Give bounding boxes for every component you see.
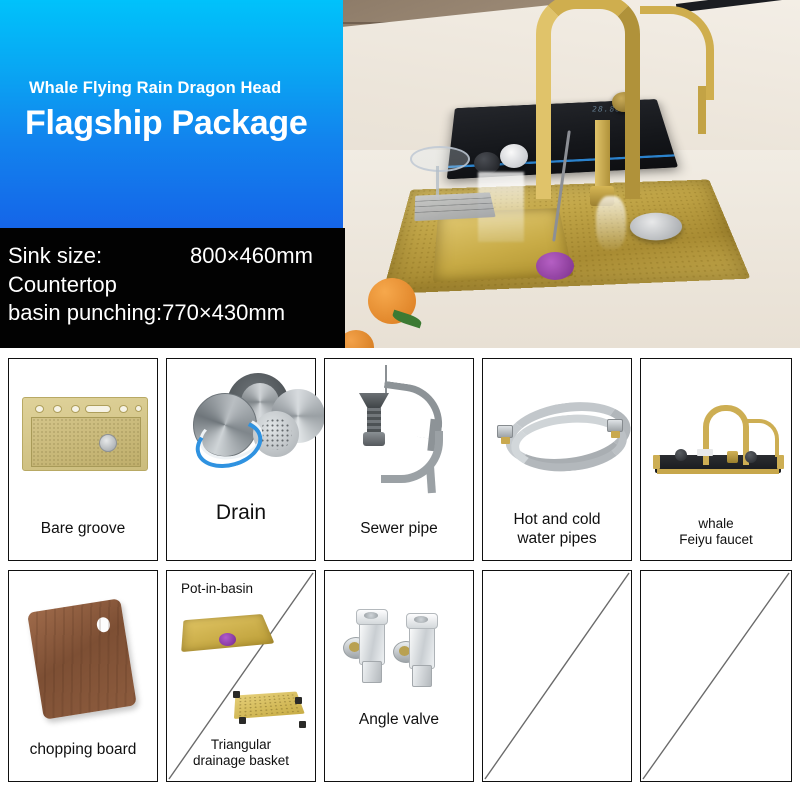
spec-basin-punching: basin punching:770×430mm <box>8 300 285 326</box>
caption-pot-in-basin: Pot-in-basin <box>181 581 253 596</box>
title-banner: Whale Flying Rain Dragon Head Flagship P… <box>0 0 343 228</box>
spec-countertop-label: Countertop <box>8 272 117 298</box>
caption-chopping-board: chopping board <box>9 741 157 759</box>
main-faucet-arc <box>536 0 640 199</box>
caption-whale-faucet-line1: whale <box>641 516 791 532</box>
caption-water-pipes: Hot and cold water pipes <box>483 511 631 548</box>
cell-empty-1[interactable] <box>482 570 632 782</box>
cell-chopping-board[interactable]: chopping board <box>8 570 158 782</box>
cell-bare-groove[interactable]: Bare groove <box>8 358 158 561</box>
diagonal-divider <box>483 571 631 781</box>
drain-board <box>414 192 495 221</box>
drain-logo <box>536 252 574 280</box>
caption-basket-line1: Triangular <box>167 737 315 753</box>
spec-sink-size-value: 800×460mm <box>190 243 313 269</box>
caption-whale-faucet-line2: Feiyu faucet <box>641 532 791 548</box>
caption-drain: Drain <box>167 501 315 526</box>
panel-dial <box>500 144 528 168</box>
caption-whale-faucet: whale Feiyu faucet <box>641 516 791 548</box>
diagonal-divider <box>641 571 791 781</box>
caption-water-pipes-line1: Hot and cold <box>483 511 631 529</box>
spray-stream <box>596 196 626 250</box>
banner-title: Flagship Package <box>25 104 307 143</box>
cell-water-pipes[interactable]: Hot and cold water pipes <box>482 358 632 561</box>
secondary-faucet-stem <box>698 86 706 134</box>
spec-sink-size: Sink size: 800×460mm <box>8 243 102 269</box>
angle-valve-illustration <box>325 571 473 781</box>
caption-basket-line2: drainage basket <box>167 753 315 769</box>
cell-sewer-pipe[interactable]: Sewer pipe <box>324 358 474 561</box>
caption-triangular-basket: Triangular drainage basket <box>167 737 315 769</box>
cell-empty-2[interactable] <box>640 570 792 782</box>
spec-sink-size-label: Sink size: <box>8 243 102 268</box>
caption-water-pipes-line2: water pipes <box>483 530 631 548</box>
cell-angle-valve[interactable]: Angle valve <box>324 570 474 782</box>
cell-whale-faucet[interactable]: whale Feiyu faucet <box>640 358 792 561</box>
cell-pot-and-basket[interactable]: Pot-in-basin Triangular drainage basket <box>166 570 316 782</box>
components-grid: Bare groove Drain Sewer pipe <box>0 358 800 794</box>
caption-angle-valve: Angle valve <box>325 711 473 729</box>
cell-drain[interactable]: Drain <box>166 358 316 561</box>
caption-bare-groove: Bare groove <box>9 520 157 538</box>
banner-subtitle: Whale Flying Rain Dragon Head <box>29 79 281 98</box>
drain-illustration <box>167 359 315 560</box>
hero-section: 28.88 Whal <box>0 0 800 348</box>
panel-knob-dark <box>474 152 500 174</box>
caption-sewer-pipe: Sewer pipe <box>325 520 473 538</box>
product-infographic: 28.88 Whal <box>0 0 800 800</box>
